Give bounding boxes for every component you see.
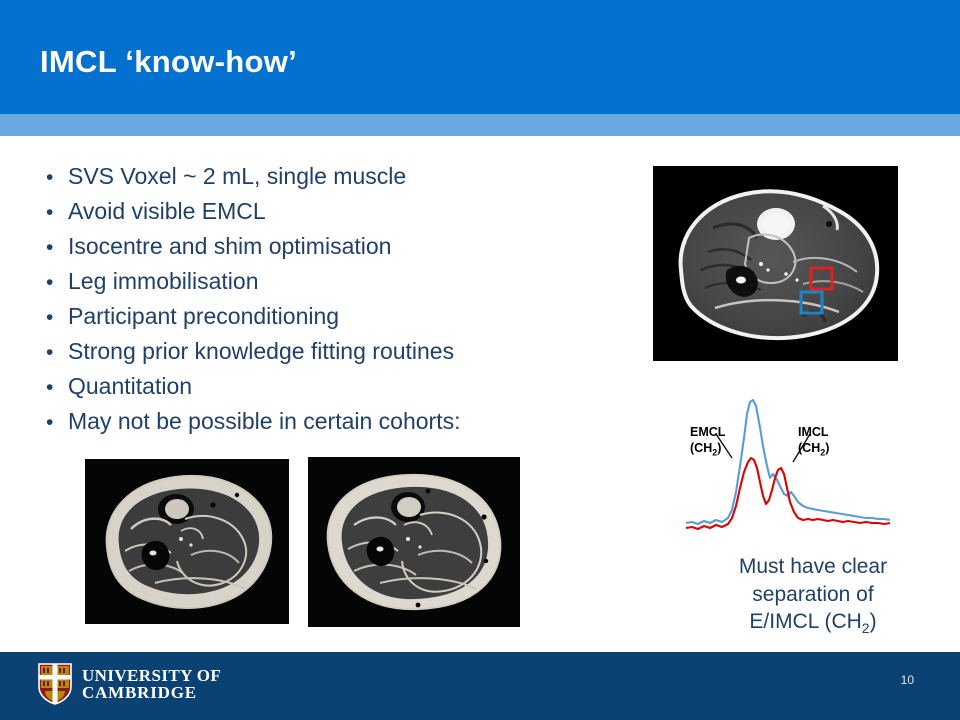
bullet-marker-icon: • [42, 202, 68, 223]
bullet-marker-icon: • [42, 167, 68, 188]
bullet-marker-icon: • [42, 377, 68, 398]
bullet-marker-icon: • [42, 307, 68, 328]
spectrum-plot [660, 392, 910, 552]
wordmark-line-2: CAMBRIDGE [82, 684, 221, 701]
bullet-marker-icon: • [42, 412, 68, 433]
list-item-label: Participant preconditioning [68, 304, 339, 329]
slide-number: 10 [901, 673, 914, 687]
list-item-label: Quantitation [68, 374, 192, 399]
list-item-label: SVS Voxel ~ 2 mL, single muscle [68, 164, 406, 189]
bullet-marker-icon: • [42, 342, 68, 363]
bullet-marker-icon: • [42, 272, 68, 293]
bullet-marker-icon: • [42, 237, 68, 258]
mri-axial-thigh-image-1 [85, 459, 289, 624]
cambridge-crest-icon [38, 663, 72, 705]
list-item: • Avoid visible EMCL [42, 199, 642, 234]
list-item-label: Strong prior knowledge fitting routines [68, 339, 454, 364]
wordmark-line-1: UNIVERSITY OF [82, 667, 221, 684]
list-item-label: Leg immobilisation [68, 269, 258, 294]
list-item-label: Avoid visible EMCL [68, 199, 266, 224]
mri-axial-thigh-image-2 [308, 457, 520, 627]
caption-line-2: separation of [752, 583, 873, 606]
imcl-peak-label: IMCL (CH2) [798, 425, 868, 458]
axial-leg-mri-with-voxel-rois [653, 166, 898, 361]
caption-line-1: Must have clear [739, 555, 887, 578]
list-item-label: Isocentre and shim optimisation [68, 234, 391, 259]
lipid-spectrum-chart [660, 392, 910, 552]
page-title: IMCL ‘know-how’ [40, 44, 297, 80]
university-logo: UNIVERSITY OF CAMBRIDGE [38, 663, 221, 705]
list-item: • Quantitation [42, 374, 642, 409]
list-item: • Leg immobilisation [42, 269, 642, 304]
axial-thigh-mri-cohort-example-1 [85, 459, 289, 624]
list-item-label: May not be possible in certain cohorts: [68, 409, 460, 434]
emcl-label-line2: (CH2) [690, 441, 721, 455]
list-item: • Participant preconditioning [42, 304, 642, 339]
imcl-label-line1: IMCL [798, 425, 829, 439]
university-wordmark: UNIVERSITY OF CAMBRIDGE [82, 667, 221, 702]
imcl-label-line2: (CH2) [798, 441, 829, 455]
list-item: • SVS Voxel ~ 2 mL, single muscle [42, 164, 642, 199]
list-item: • May not be possible in certain cohorts… [42, 409, 642, 444]
mri-axial-leg-image [653, 166, 898, 361]
emcl-peak-label: EMCL (CH2) [690, 425, 760, 458]
axial-thigh-mri-cohort-example-2 [308, 457, 520, 627]
bullet-list: • SVS Voxel ~ 2 mL, single muscle • Avoi… [42, 164, 642, 444]
list-item: • Isocentre and shim optimisation [42, 234, 642, 269]
caption-line-3: E/IMCL (CH2) [749, 610, 876, 633]
header-accent-bar [0, 114, 960, 136]
spectrum-caption: Must have clear separation of E/IMCL (CH… [668, 553, 958, 638]
list-item: • Strong prior knowledge fitting routine… [42, 339, 642, 374]
emcl-label-line1: EMCL [690, 425, 725, 439]
